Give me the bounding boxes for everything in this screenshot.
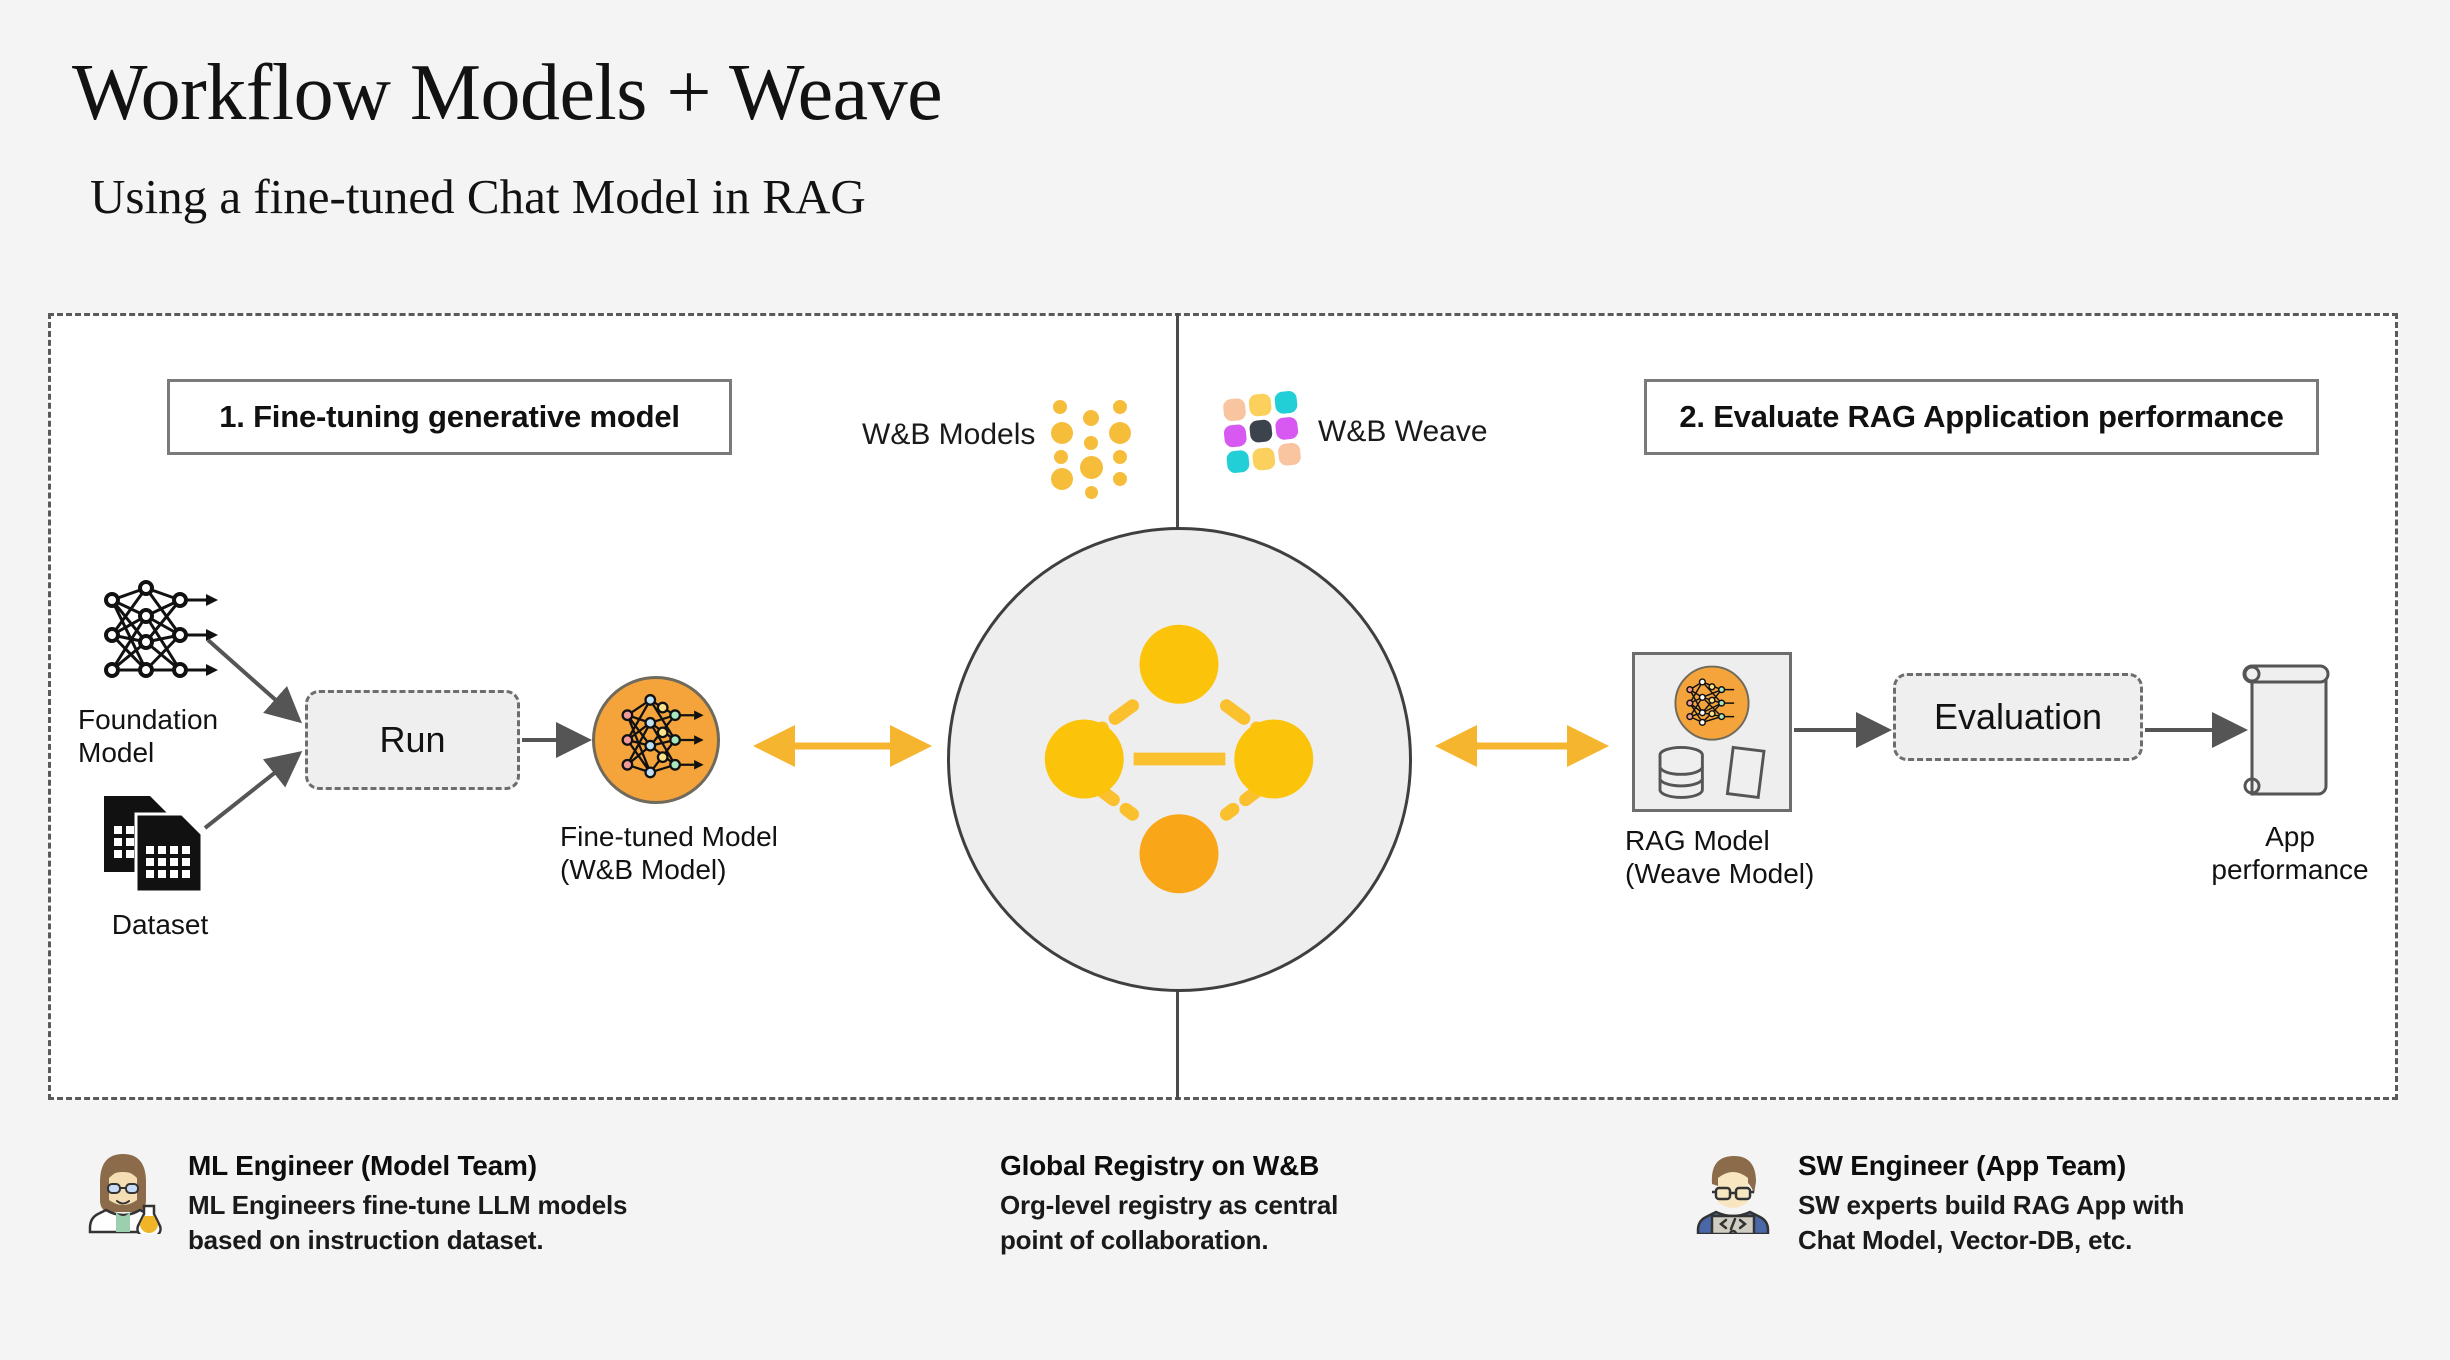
app-performance-label: App performance [2190,820,2390,886]
legend-desc: SW experts build RAG App with Chat Model… [1798,1188,2184,1257]
foundation-model-label: Foundation Model [78,703,268,769]
page-title: Workflow Models + Weave [72,48,942,139]
legend-title: SW Engineer (App Team) [1798,1150,2184,1182]
legend-item-ml-engineer: ML Engineer (Model Team) ML Engineers fi… [80,1148,627,1257]
evaluation-box: Evaluation [1893,673,2143,761]
fine-tuned-model-label: Fine-tuned Model (W&B Model) [560,820,860,886]
man-technologist-avatar [1690,1148,1776,1234]
dataset-icon [100,790,210,900]
wandb-weave-label: W&B Weave [1318,415,1488,449]
section-header-evaluate-rag: 2. Evaluate RAG Application performance [1644,379,2319,455]
woman-scientist-avatar [80,1148,166,1234]
rag-model-label: RAG Model (Weave Model) [1625,824,1925,890]
page-subtitle: Using a fine-tuned Chat Model in RAG [90,168,866,225]
dataset-label: Dataset [70,908,250,941]
run-box: Run [305,690,520,790]
legend-title: ML Engineer (Model Team) [188,1150,627,1182]
section-header-fine-tuning: 1. Fine-tuning generative model [167,379,732,455]
legend-item-global-registry: Global Registry on W&B Org-level registr… [1000,1148,1338,1257]
rag-model-box [1632,652,1792,812]
fine-tuned-model-icon [592,676,720,804]
wandb-models-label: W&B Models [862,418,1035,452]
global-registry-circle [947,527,1412,992]
wandb-models-dots-icon [1051,398,1125,472]
legend-desc: ML Engineers fine-tune LLM models based … [188,1188,627,1257]
report-scroll-icon [2234,660,2339,805]
wandb-models-lockup: W&B Models [862,398,1125,472]
wandb-weave-lockup: W&B Weave [1222,392,1488,472]
neural-network-icon [90,580,220,690]
legend-desc: Org-level registry as central point of c… [1000,1188,1338,1257]
legend-item-sw-engineer: SW Engineer (App Team) SW experts build … [1690,1148,2184,1257]
legend-title: Global Registry on W&B [1000,1150,1338,1182]
wandb-weave-tiles-icon [1218,388,1306,476]
